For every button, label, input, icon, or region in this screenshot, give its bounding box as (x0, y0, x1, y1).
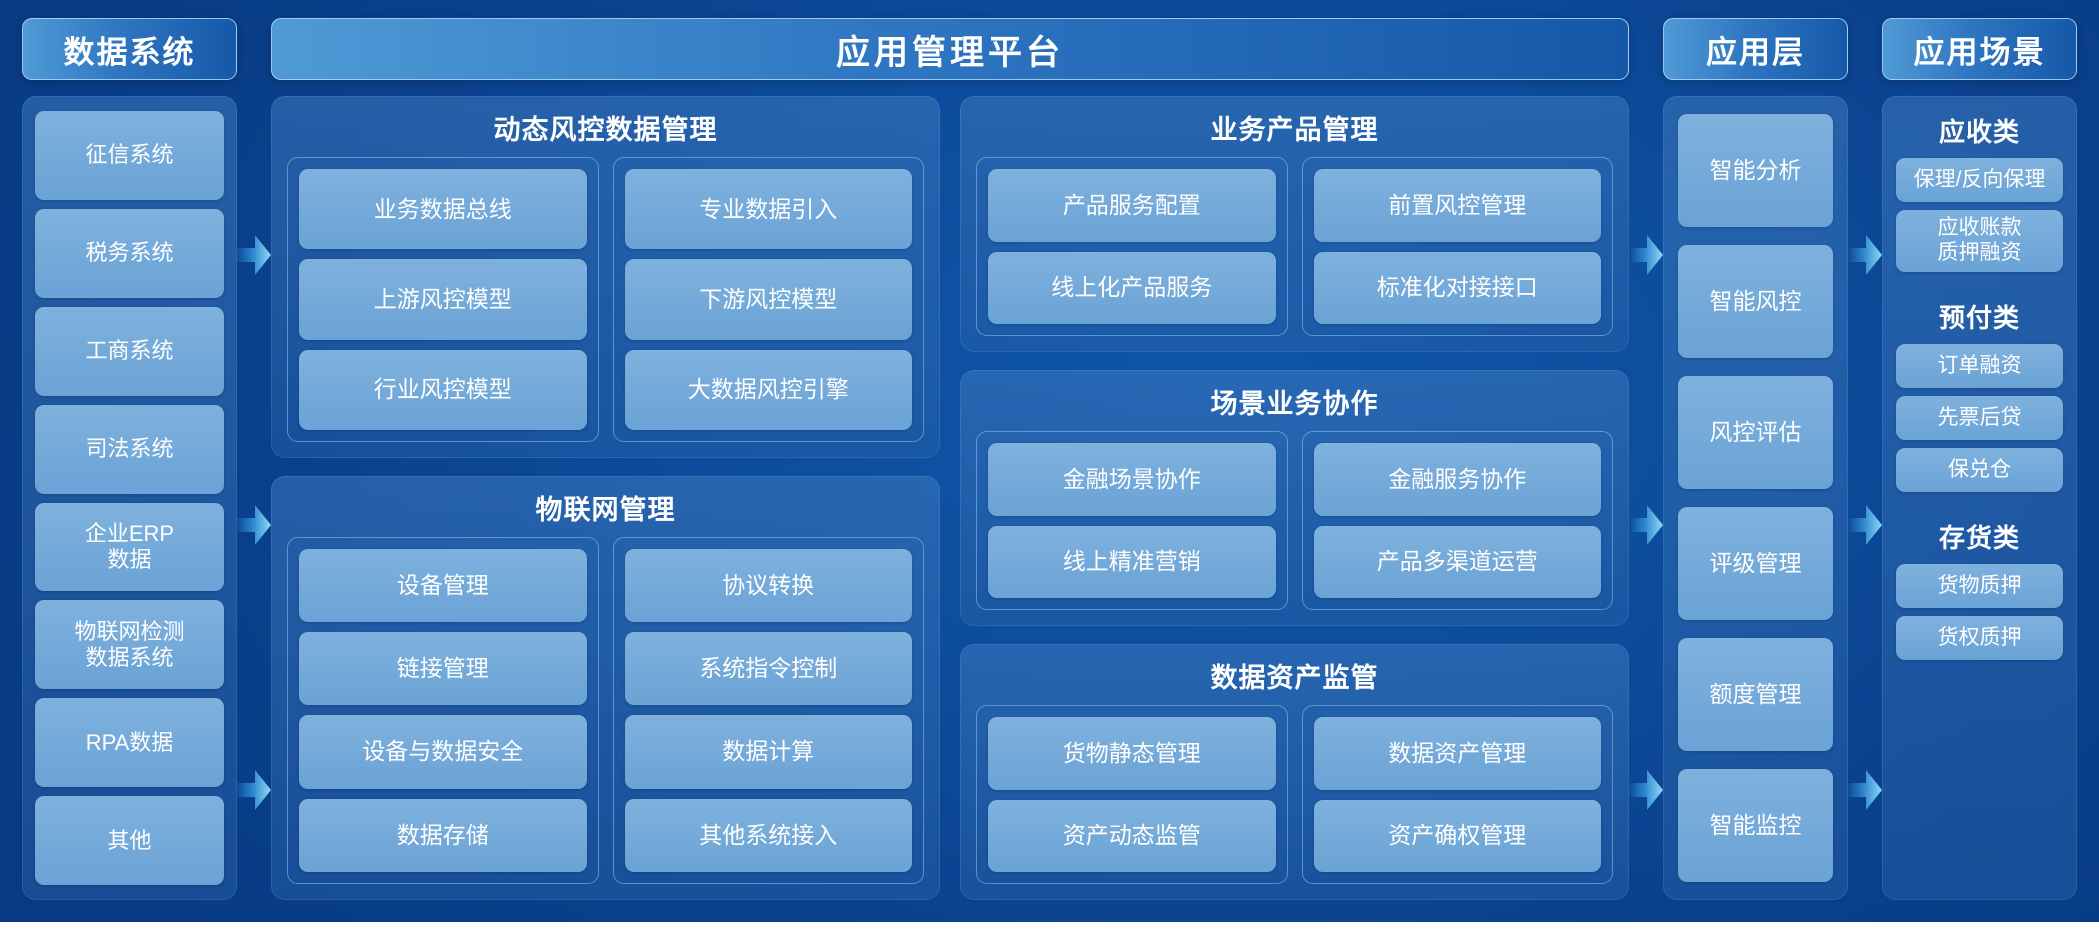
list-item[interactable]: 金融服务协作 (1314, 443, 1602, 516)
right-arrow-icon (237, 503, 271, 547)
list-item[interactable]: 税务系统 (35, 209, 224, 298)
list-item[interactable]: 数据存储 (299, 799, 587, 872)
arrow-group-platform-to-applayer (1629, 18, 1663, 900)
right-arrow-icon (1848, 233, 1882, 277)
group-title: 预付类 (1896, 298, 2063, 335)
list-item[interactable]: 货物质押 (1896, 564, 2063, 608)
list-item[interactable]: 线上化产品服务 (988, 252, 1276, 325)
application-layer-list: 智能分析 智能风控 风控评估 评级管理 额度管理 智能监控 (1663, 96, 1848, 900)
column-header-scenarios[interactable]: 应用场景 (1882, 18, 2077, 80)
panel-title: 场景业务协作 (976, 382, 1613, 421)
list-item[interactable]: 设备管理 (299, 549, 587, 622)
list-item[interactable]: 保兑仓 (1896, 448, 2063, 492)
list-item[interactable]: 设备与数据安全 (299, 715, 587, 788)
scenarios-list: 应收类 保理/反向保理 应收账款 质押融资 预付类 订单融资 先票后贷 保兑仓 … (1882, 96, 2077, 900)
right-arrow-icon (237, 233, 271, 277)
column-header-data-systems[interactable]: 数据系统 (22, 18, 237, 80)
list-item[interactable]: 智能分析 (1678, 114, 1833, 227)
list-item[interactable]: 物联网检测 数据系统 (35, 600, 224, 689)
column-header-platform[interactable]: 应用管理平台 (271, 18, 1629, 80)
list-item[interactable]: 标准化对接接口 (1314, 252, 1602, 325)
panel-subgroup-left: 业务数据总线 上游风控模型 行业风控模型 (287, 157, 599, 442)
list-item[interactable]: 工商系统 (35, 307, 224, 396)
right-arrow-icon (1629, 233, 1663, 277)
data-systems-list: 征信系统 税务系统 工商系统 司法系统 企业ERP 数据 物联网检测 数据系统 … (22, 96, 237, 900)
list-item[interactable]: 行业风控模型 (299, 350, 587, 430)
right-arrow-icon (237, 768, 271, 812)
arrow-group-data-to-platform (237, 18, 271, 900)
group-title: 存货类 (1896, 518, 2063, 555)
scenario-group-receivables: 应收类 保理/反向保理 应收账款 质押融资 (1896, 108, 2063, 280)
list-item[interactable]: 征信系统 (35, 111, 224, 200)
panel-subgroup-right: 专业数据引入 下游风控模型 大数据风控引擎 (613, 157, 925, 442)
list-item[interactable]: 应收账款 质押融资 (1896, 210, 2063, 272)
panel-subgroup-right: 金融服务协作 产品多渠道运营 (1302, 431, 1614, 610)
column-data-systems: 数据系统 征信系统 税务系统 工商系统 司法系统 企业ERP 数据 物联网检测 … (22, 18, 237, 900)
list-item[interactable]: 链接管理 (299, 632, 587, 705)
list-item[interactable]: RPA数据 (35, 698, 224, 787)
list-item[interactable]: 系统指令控制 (625, 632, 913, 705)
list-item[interactable]: 下游风控模型 (625, 259, 913, 339)
panel-title: 业务产品管理 (976, 108, 1613, 147)
panel-subgroup-left: 货物静态管理 资产动态监管 (976, 705, 1288, 884)
list-item[interactable]: 司法系统 (35, 405, 224, 494)
list-item[interactable]: 协议转换 (625, 549, 913, 622)
panel-subgroup-left: 金融场景协作 线上精准营销 (976, 431, 1288, 610)
column-platform: 应用管理平台 动态风控数据管理 业务数据总线 上游风控模型 行业风控模型 (271, 18, 1629, 900)
list-item[interactable]: 货权质押 (1896, 616, 2063, 660)
platform-panels: 动态风控数据管理 业务数据总线 上游风控模型 行业风控模型 专业数据引入 下游风… (271, 96, 1629, 900)
panel-title: 数据资产监管 (976, 656, 1613, 695)
panel-iot-management: 物联网管理 设备管理 链接管理 设备与数据安全 数据存储 协议转换 系统指令控制 (271, 476, 940, 900)
list-item[interactable]: 企业ERP 数据 (35, 503, 224, 592)
list-item[interactable]: 其他系统接入 (625, 799, 913, 872)
group-title: 应收类 (1896, 112, 2063, 149)
list-item[interactable]: 资产动态监管 (988, 800, 1276, 873)
list-item[interactable]: 其他 (35, 796, 224, 885)
arrow-group-applayer-to-scenarios (1848, 18, 1882, 900)
panel-title: 动态风控数据管理 (287, 108, 924, 147)
scenario-group-inventory: 存货类 货物质押 货权质押 (1896, 514, 2063, 668)
panel-subgroup-right: 前置风控管理 标准化对接接口 (1302, 157, 1614, 336)
panel-business-product-management: 业务产品管理 产品服务配置 线上化产品服务 前置风控管理 标准化对接接口 (960, 96, 1629, 352)
list-item[interactable]: 前置风控管理 (1314, 169, 1602, 242)
panel-scenario-business-collaboration: 场景业务协作 金融场景协作 线上精准营销 金融服务协作 产品多渠道运营 (960, 370, 1629, 626)
list-item[interactable]: 保理/反向保理 (1896, 158, 2063, 202)
list-item[interactable]: 业务数据总线 (299, 169, 587, 249)
diagram-root: 数据系统 征信系统 税务系统 工商系统 司法系统 企业ERP 数据 物联网检测 … (0, 0, 2099, 950)
panel-subgroup-right: 协议转换 系统指令控制 数据计算 其他系统接入 (613, 537, 925, 884)
column-header-application-layer[interactable]: 应用层 (1663, 18, 1848, 80)
list-item[interactable]: 产品服务配置 (988, 169, 1276, 242)
list-item[interactable]: 资产确权管理 (1314, 800, 1602, 873)
list-item[interactable]: 数据计算 (625, 715, 913, 788)
list-item[interactable]: 货物静态管理 (988, 717, 1276, 790)
list-item[interactable]: 数据资产管理 (1314, 717, 1602, 790)
right-arrow-icon (1848, 768, 1882, 812)
column-scenarios: 应用场景 应收类 保理/反向保理 应收账款 质押融资 预付类 订单融资 先票后贷… (1882, 18, 2077, 900)
panel-risk-data-management: 动态风控数据管理 业务数据总线 上游风控模型 行业风控模型 专业数据引入 下游风… (271, 96, 940, 458)
list-item[interactable]: 大数据风控引擎 (625, 350, 913, 430)
list-item[interactable]: 线上精准营销 (988, 526, 1276, 599)
right-arrow-icon (1629, 768, 1663, 812)
list-item[interactable]: 上游风控模型 (299, 259, 587, 339)
list-item[interactable]: 评级管理 (1678, 507, 1833, 620)
panel-title: 物联网管理 (287, 488, 924, 527)
list-item[interactable]: 专业数据引入 (625, 169, 913, 249)
panel-subgroup-left: 设备管理 链接管理 设备与数据安全 数据存储 (287, 537, 599, 884)
list-item[interactable]: 智能监控 (1678, 769, 1833, 882)
list-item[interactable]: 先票后贷 (1896, 396, 2063, 440)
scenario-group-prepaid: 预付类 订单融资 先票后贷 保兑仓 (1896, 294, 2063, 500)
panel-data-asset-supervision: 数据资产监管 货物静态管理 资产动态监管 数据资产管理 资产确权管理 (960, 644, 1629, 900)
list-item[interactable]: 产品多渠道运营 (1314, 526, 1602, 599)
column-application-layer: 应用层 智能分析 智能风控 风控评估 评级管理 额度管理 智能监控 (1663, 18, 1848, 900)
diagram-columns: 数据系统 征信系统 税务系统 工商系统 司法系统 企业ERP 数据 物联网检测 … (0, 0, 2099, 922)
list-item[interactable]: 额度管理 (1678, 638, 1833, 751)
panel-subgroup-right: 数据资产管理 资产确权管理 (1302, 705, 1614, 884)
right-arrow-icon (1629, 503, 1663, 547)
list-item[interactable]: 风控评估 (1678, 376, 1833, 489)
platform-left-stack: 动态风控数据管理 业务数据总线 上游风控模型 行业风控模型 专业数据引入 下游风… (271, 96, 940, 900)
right-arrow-icon (1848, 503, 1882, 547)
list-item[interactable]: 智能风控 (1678, 245, 1833, 358)
panel-subgroup-left: 产品服务配置 线上化产品服务 (976, 157, 1288, 336)
platform-right-stack: 业务产品管理 产品服务配置 线上化产品服务 前置风控管理 标准化对接接口 (960, 96, 1629, 900)
list-item[interactable]: 订单融资 (1896, 344, 2063, 388)
list-item[interactable]: 金融场景协作 (988, 443, 1276, 516)
